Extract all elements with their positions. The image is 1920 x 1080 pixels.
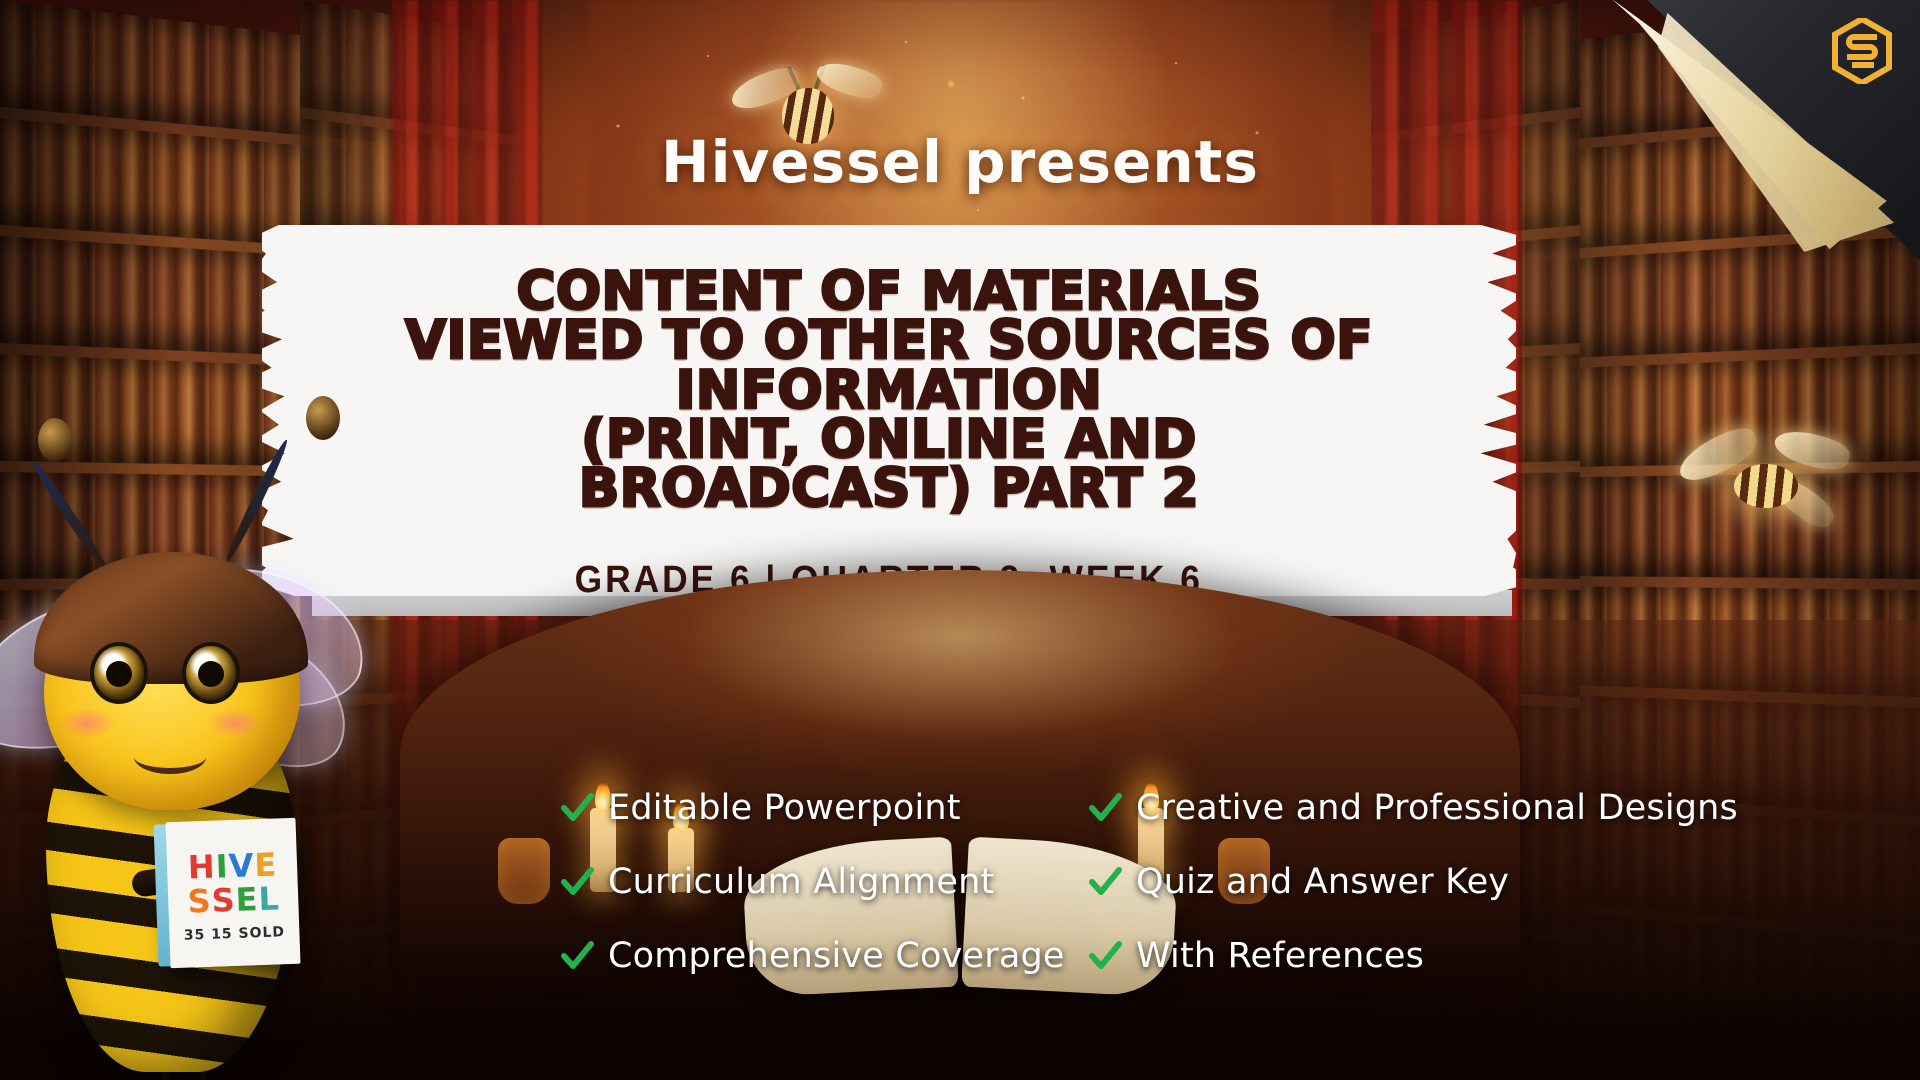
title-line-4: (PRINT, ONLINE AND xyxy=(405,415,1373,464)
title-line-3: INFORMATION xyxy=(405,366,1373,415)
hivessel-hex-logo-icon[interactable] xyxy=(1832,18,1892,84)
mascot-antenna-tip xyxy=(306,396,340,440)
check-icon xyxy=(560,939,594,973)
check-icon xyxy=(1088,939,1122,973)
jar-left xyxy=(498,838,550,904)
feature-item: Editable Powerpoint xyxy=(560,788,1070,828)
feature-label: Editable Powerpoint xyxy=(608,788,961,828)
feature-column-left: Editable Powerpoint Curriculum Alignment… xyxy=(560,788,1070,976)
feature-label: Curriculum Alignment xyxy=(608,862,994,902)
feature-label: Creative and Professional Designs xyxy=(1136,788,1738,828)
feature-list: Editable Powerpoint Curriculum Alignment… xyxy=(560,788,1900,976)
feature-item: Quiz and Answer Key xyxy=(1088,862,1888,902)
mascot-eye xyxy=(182,642,240,704)
check-icon xyxy=(560,791,594,825)
mascot-book-title-top: HIVE xyxy=(187,848,276,883)
bee-mascot: HIVE SSEL 35 15 SOLD xyxy=(0,390,456,1080)
mascot-antenna-tip xyxy=(38,418,72,462)
mascot-book-title-bottom: SSEL xyxy=(187,882,279,917)
mascot-book-letter: L xyxy=(258,882,279,915)
feature-item: Creative and Professional Designs xyxy=(1088,788,1888,828)
check-icon xyxy=(1088,791,1122,825)
feature-item: With References xyxy=(1088,936,1888,976)
mascot-book-letter: S xyxy=(187,885,211,918)
feature-column-right: Creative and Professional Designs Quiz a… xyxy=(1088,788,1888,976)
mascot-book-letter: E xyxy=(235,883,258,916)
page-title: CONTENT OF MATERIALS VIEWED TO OTHER SOU… xyxy=(405,267,1373,513)
mascot-book-letter: I xyxy=(215,850,228,882)
mascot-book-letter: S xyxy=(211,884,235,917)
mascot-eye xyxy=(90,642,148,704)
check-icon xyxy=(560,865,594,899)
mascot-book-caption: 35 15 SOLD xyxy=(184,924,286,944)
feature-item: Comprehensive Coverage xyxy=(560,936,1070,976)
brand-presents-text: Hivessel presents xyxy=(0,128,1920,196)
mascot-blush xyxy=(208,708,262,738)
slide-root: CONTENT OF MATERIALS VIEWED TO OTHER SOU… xyxy=(0,0,1920,1080)
mascot-smile xyxy=(134,740,206,774)
feature-label: Comprehensive Coverage xyxy=(608,936,1065,976)
title-line-2: VIEWED TO OTHER SOURCES OF xyxy=(405,316,1373,365)
bee-icon-right xyxy=(1690,432,1840,542)
feature-label: With References xyxy=(1136,936,1424,976)
feature-label: Quiz and Answer Key xyxy=(1136,862,1509,902)
mascot-book-letter: H xyxy=(187,851,215,884)
feature-item: Curriculum Alignment xyxy=(560,862,1070,902)
mascot-book: HIVE SSEL 35 15 SOLD xyxy=(165,818,300,968)
mascot-blush xyxy=(60,708,114,738)
title-line-1: CONTENT OF MATERIALS xyxy=(405,267,1373,316)
mascot-antenna xyxy=(223,438,292,565)
title-line-5: BROADCAST) PART 2 xyxy=(405,464,1373,513)
mascot-book-letter: E xyxy=(254,848,277,881)
mascot-book-letter: V xyxy=(228,849,254,882)
check-icon xyxy=(1088,865,1122,899)
mascot-antenna xyxy=(29,458,113,576)
